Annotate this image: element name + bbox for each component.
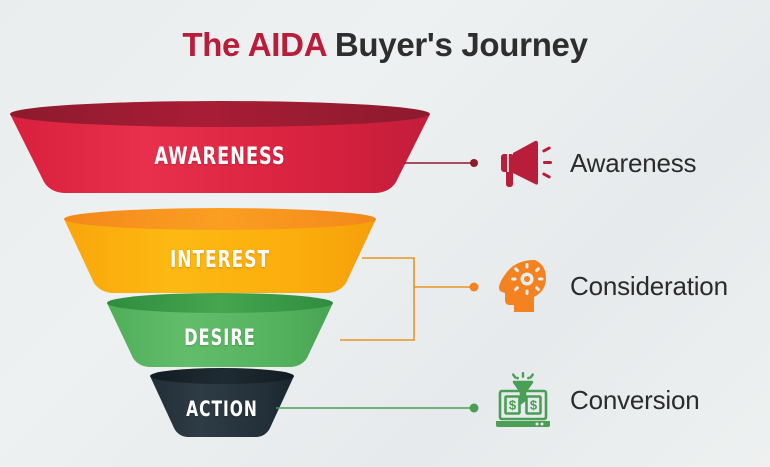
svg-text:$: $: [509, 398, 517, 413]
megaphone-icon: [492, 135, 554, 191]
action-rim: [150, 368, 294, 384]
desire-rim: [107, 293, 333, 313]
funnel-segment-desire[interactable]: DESIRE: [105, 292, 335, 372]
legend-row-consideration[interactable]: Consideration: [492, 258, 728, 314]
legend-row-conversion[interactable]: $ $ Conversion: [492, 372, 700, 428]
legend-label-conversion: Conversion: [570, 385, 700, 416]
funnel-segment-interest[interactable]: INTEREST: [62, 207, 378, 299]
connector-dot-consideration: [470, 283, 479, 292]
laptop-funnel-money-icon: $ $: [492, 372, 554, 428]
interest-rim: [64, 208, 376, 230]
funnel-chart: AWARENESS: [0, 0, 470, 467]
awareness-rim: [10, 101, 430, 127]
interest-body: [64, 219, 376, 293]
action-body: [150, 376, 294, 437]
funnel-segment-awareness[interactable]: AWARENESS: [8, 100, 432, 200]
connector-dot-awareness: [470, 159, 478, 167]
legend-label-consideration: Consideration: [570, 271, 728, 302]
infographic-canvas: The AIDA Buyer's Journey: [0, 0, 770, 467]
funnel-segment-action[interactable]: ACTION: [148, 366, 296, 442]
connector-dot-conversion: [470, 404, 479, 413]
legend-row-awareness[interactable]: Awareness: [492, 135, 696, 191]
legend-label-awareness: Awareness: [570, 148, 696, 179]
svg-text:$: $: [530, 398, 538, 413]
head-idea-icon: [492, 258, 554, 314]
